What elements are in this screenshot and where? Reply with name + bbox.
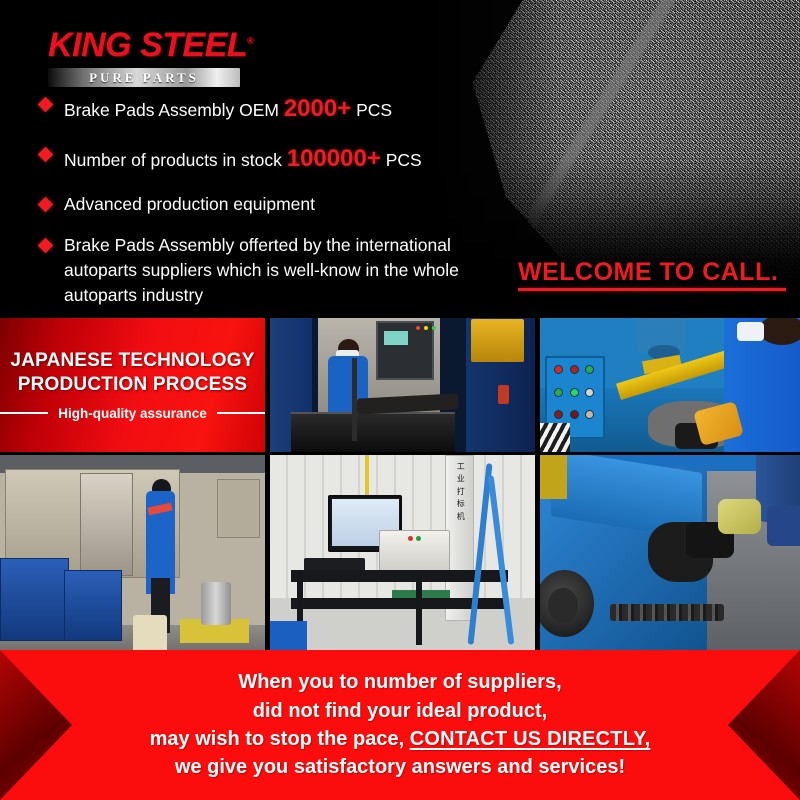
hero-section: KING STEEL® PURE PARTS Brake Pads Assemb… — [0, 0, 800, 318]
air-nozzle — [498, 385, 509, 404]
photo-chain-conveyor — [540, 455, 800, 653]
oven-door — [80, 473, 133, 576]
brand-tagline-bar: PURE PARTS — [48, 68, 240, 87]
feature-bullet-list: Brake Pads Assembly OEM 2000+ PCS Number… — [40, 92, 560, 308]
bullet-item: Advanced production equipment — [40, 192, 560, 217]
striped-sleeve — [540, 423, 570, 452]
blue-parts-bin — [0, 558, 69, 641]
push-button-red-2 — [570, 365, 579, 374]
promo-banner-page: KING STEEL® PURE PARTS Brake Pads Assemb… — [0, 0, 800, 800]
push-button-green — [585, 365, 594, 374]
bullet-text: Brake Pads Assembly offerted by the inte… — [64, 233, 509, 308]
japanese-technology-panel: JAPANESE TECHNOLOGY PRODUCTION PROCESS H… — [0, 318, 265, 452]
process-headline-line2: PRODUCTION PROCESS — [18, 373, 248, 397]
brand-tagline: PURE PARTS — [89, 70, 199, 86]
trademark-icon: ® — [247, 36, 253, 46]
yellow-cord — [365, 455, 369, 499]
bullet-text-before: Number of products in stock — [64, 150, 287, 170]
contact-us-link[interactable]: CONTACT US DIRECTLY, — [410, 728, 651, 750]
chevron-right-icon — [728, 650, 800, 800]
photo-factory-line — [0, 455, 265, 653]
diamond-bullet-icon — [38, 147, 54, 163]
steel-drum — [201, 582, 230, 626]
bench-leg-right — [416, 570, 423, 645]
worker-head — [759, 318, 800, 345]
yellow-machine-housing — [471, 319, 524, 362]
indicator-light-red — [416, 326, 420, 330]
brand-name-text: KING STEEL — [48, 26, 247, 64]
handwheel-hub — [548, 588, 578, 624]
bullet-item: Brake Pads Assembly offerted by the inte… — [40, 233, 560, 308]
push-button-dark-red — [554, 410, 563, 419]
cta-text-block: When you to number of suppliers, did not… — [70, 668, 731, 782]
bullet-text: Advanced production equipment — [64, 192, 315, 217]
welcome-to-call-text: WELCOME TO CALL. — [518, 258, 778, 287]
glove-yellow — [718, 499, 761, 535]
quality-assurance-text: High-quality assurance — [58, 406, 207, 421]
bullet-highlight: 100000+ — [287, 145, 381, 172]
bullet-text-after: PCS — [351, 100, 392, 120]
push-button-dark-red-2 — [570, 410, 579, 419]
bullet-item: Number of products in stock 100000+ PCS — [40, 142, 560, 176]
bullet-item: Brake Pads Assembly OEM 2000+ PCS — [40, 92, 560, 126]
worker-sleeve-2 — [767, 506, 800, 546]
push-button-green-2 — [554, 388, 563, 397]
bullet-text: Number of products in stock 100000+ PCS — [64, 142, 422, 176]
indicator-light-red — [408, 536, 413, 541]
conveyor-chain — [610, 604, 723, 622]
brand-logo: KING STEEL® PURE PARTS — [48, 28, 240, 87]
photo-press-machine — [540, 318, 800, 452]
machine-label-chinese: 工 业 打 标 机 — [452, 461, 471, 523]
chemical-jug — [133, 615, 167, 653]
blue-parts-bin-2 — [64, 570, 122, 641]
push-button-green-3 — [570, 388, 579, 397]
rule-left — [0, 412, 48, 414]
bullet-highlight: 2000+ — [284, 95, 351, 122]
cta-line-4: we give you satisfactory answers and ser… — [150, 753, 651, 781]
control-display — [384, 331, 408, 344]
bullet-text-before: Brake Pads Assembly OEM — [64, 100, 284, 120]
process-headline-line1: JAPANESE TECHNOLOGY — [10, 349, 254, 373]
photo-worker-operating-machine — [270, 318, 535, 452]
indicator-light-green — [432, 326, 436, 330]
push-button-white — [585, 388, 594, 397]
yellow-marker — [540, 455, 567, 499]
diamond-bullet-icon — [38, 238, 54, 254]
machine-rod — [352, 358, 357, 441]
push-button-beige — [585, 410, 594, 419]
bullet-text: Brake Pads Assembly OEM 2000+ PCS — [64, 92, 392, 126]
welcome-underline — [518, 288, 786, 291]
diamond-bullet-icon — [38, 197, 54, 213]
blue-bin — [270, 621, 307, 653]
cta-line-2: did not find your ideal product, — [150, 697, 651, 725]
face-mask-icon — [737, 322, 764, 341]
chevron-left-icon — [0, 650, 72, 800]
cta-line-1: When you to number of suppliers, — [150, 668, 651, 696]
brand-name: KING STEEL® — [48, 28, 240, 62]
photo-laser-marking-station: 工 业 打 标 机 — [270, 455, 535, 653]
bottom-cta-banner: When you to number of suppliers, did not… — [0, 650, 800, 800]
quality-assurance-row: High-quality assurance — [0, 406, 265, 421]
push-button-red — [554, 365, 563, 374]
indicator-light-yellow — [424, 326, 428, 330]
diamond-bullet-icon — [38, 97, 54, 113]
wall-cabinet — [217, 479, 259, 538]
cta-line-3-prefix: may wish to stop the pace, — [150, 728, 410, 750]
cta-line-3: may wish to stop the pace, CONTACT US DI… — [150, 725, 651, 753]
indicator-light-green — [416, 536, 421, 541]
rule-right — [217, 412, 265, 414]
process-photo-grid: JAPANESE TECHNOLOGY PRODUCTION PROCESS H… — [0, 318, 800, 650]
machine-tank — [291, 412, 455, 452]
bullet-text-after: PCS — [381, 150, 422, 170]
